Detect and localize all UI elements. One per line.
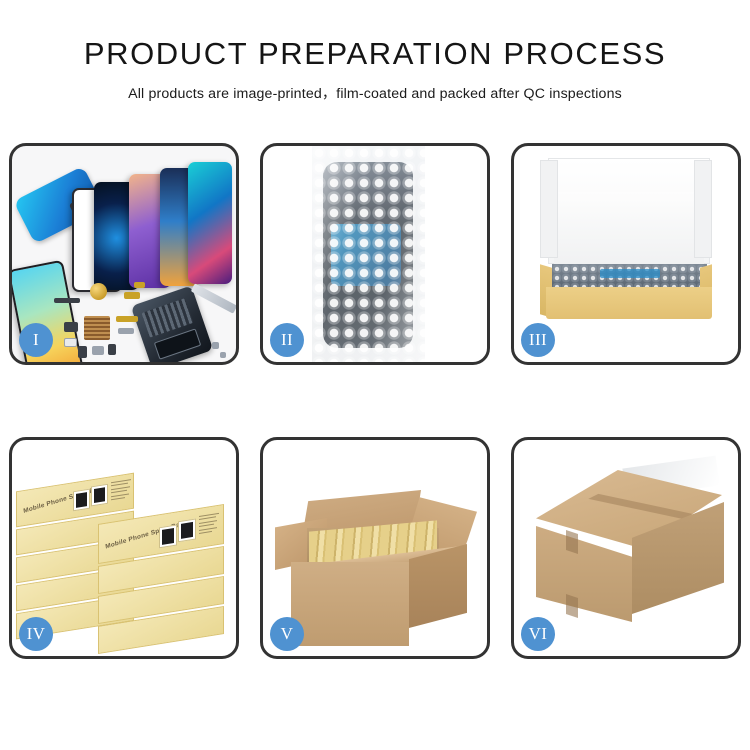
box-print-thumb-4 [178,518,196,542]
steps-grid: I II III [9,143,742,681]
vibration-motor-icon [90,283,107,300]
carton-front-panel [291,562,409,646]
box-print-thumb-1 [73,489,90,512]
earpiece-mesh-icon [54,298,80,303]
header: PRODUCT PREPARATION PROCESS All products… [0,0,750,103]
box-print-specs-2 [199,513,219,537]
small-connector-icon [64,338,77,347]
box-print-thumb-2 [91,484,108,507]
flex-cable-icon [64,322,78,332]
mailer-flap-right [694,160,712,258]
volume-button-flex-icon [124,292,140,299]
step-panel-4: Mobile Phone Spare Parts [9,437,239,659]
box-print-specs-1 [111,479,131,503]
plastic-gloss-overlay [312,146,425,362]
step-panel-6: VI [511,437,741,659]
screw-small-icon [220,352,226,358]
screw-icon [212,342,219,349]
metal-bracket-icon [92,346,104,355]
mailer-front-panel [546,287,712,319]
tape-strip-bottom [566,594,578,618]
step-panel-5: V [260,437,490,659]
chip-array-icon [84,316,110,340]
step-panel-1: I [9,143,239,365]
step-badge-4: IV [19,617,53,651]
step-badge-6: VI [521,617,555,651]
gold-flex-strip-icon [116,316,138,322]
phone-teal-icon [188,162,232,284]
step-badge-5: V [270,617,304,651]
box-print-thumb-3 [159,524,177,548]
step-panel-3: III [511,143,741,365]
product-preparation-infographic: PRODUCT PREPARATION PROCESS All products… [0,0,750,750]
shield-plate-icon [118,328,134,334]
speaker-module-icon [78,346,87,358]
power-button-flex-icon [134,282,145,288]
step-badge-3: III [521,323,555,357]
mailer-flap-left [540,160,558,258]
step-panel-2: II [260,143,490,365]
camera-module-icon [108,344,116,355]
foam-liner [554,192,704,266]
page-subtitle: All products are image-printed，film-coat… [0,72,750,103]
tape-strip-top [566,530,578,554]
step-badge-1: I [19,323,53,357]
page-title: PRODUCT PREPARATION PROCESS [0,0,750,72]
step-badge-2: II [270,323,304,357]
